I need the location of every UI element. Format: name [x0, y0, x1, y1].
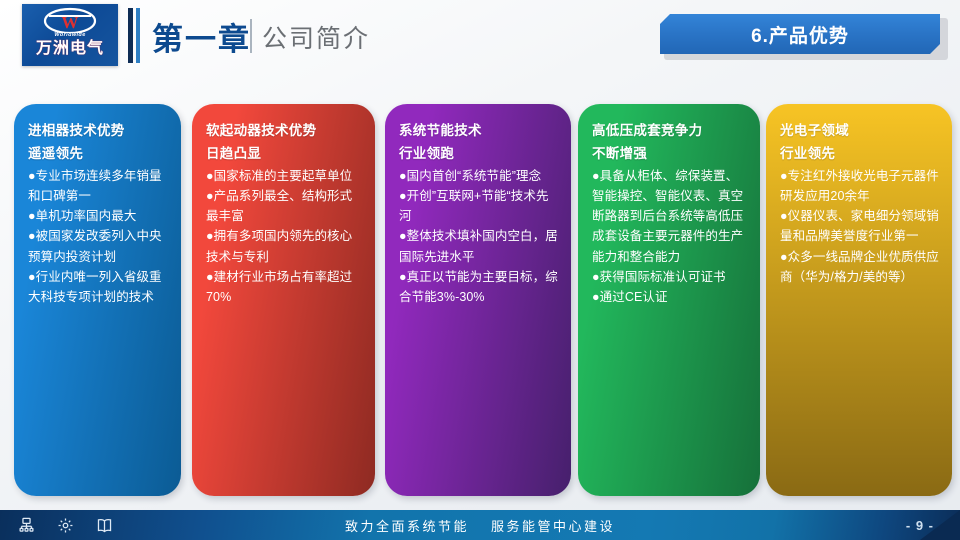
card-bullet: ●真正以节能为主要目标，综合节能3%-30% [399, 267, 559, 308]
card-bullet: ●产品系列最全、结构形式最丰富 [206, 186, 363, 227]
card-bullet: ●拥有多项国内领先的核心技术与专利 [206, 226, 363, 267]
card-title-line1: 系统节能技术 [399, 120, 559, 142]
footer-tagline: 致力全面系统节能 服务能管中心建设 [0, 510, 960, 540]
card-bullet: ●整体技术填补国内空白，居国际先进水平 [399, 226, 559, 267]
card-bullet: ●行业内唯一列入省级重大科技专项计划的技术 [28, 267, 169, 308]
card-bullet-list: ●国家标准的主要起草单位●产品系列最全、结构形式最丰富●拥有多项国内领先的核心技… [206, 166, 363, 308]
advantage-cards-row: 进相器技术优势遥遥领先●专业市场连续多年销量和口碑第一●单机功率国内最大●被国家… [0, 104, 960, 496]
card-bullet-list: ●具备从柜体、综保装置、智能操控、智能仪表、真空断路器到后台系统等高低压成套设备… [592, 166, 748, 308]
card-phase-shifter: 进相器技术优势遥遥领先●专业市场连续多年销量和口碑第一●单机功率国内最大●被国家… [14, 104, 181, 496]
card-bullet-list: ●专注红外接收光电子元器件研发应用20余年●仪器仪表、家电细分领域销量和品牌美誉… [780, 166, 940, 288]
slide-footer: 致力全面系统节能 服务能管中心建设 - 9 - [0, 510, 960, 540]
card-title-line1: 高低压成套竞争力 [592, 120, 748, 142]
card-bullet-list: ●国内首创“系统节能”理念●开创”互联网+节能“技术先河●整体技术填补国内空白，… [399, 166, 559, 308]
card-bullet: ●众多一线品牌企业优质供应商（华为/格力/美的等） [780, 247, 940, 288]
card-bullet: ●单机功率国内最大 [28, 206, 169, 226]
card-title-line1: 光电子领域 [780, 120, 940, 142]
card-title-line2: 行业领先 [780, 143, 940, 165]
card-soft-starter: 软起动器技术优势日趋凸显●国家标准的主要起草单位●产品系列最全、结构形式最丰富●… [192, 104, 375, 496]
card-bullet: ●专注红外接收光电子元器件研发应用20余年 [780, 166, 940, 207]
card-bullet: ●获得国际标准认可证书 [592, 267, 748, 287]
card-title-line1: 软起动器技术优势 [206, 120, 363, 142]
footer-tagline-right: 服务能管中心建设 [491, 516, 615, 535]
badge-shape: 6.产品优势 [660, 14, 940, 54]
card-bullet: ●仪器仪表、家电细分领域销量和品牌美誉度行业第一 [780, 206, 940, 247]
section-title-text: 6.产品优势 [751, 21, 849, 48]
card-system-saving: 系统节能技术行业领跑●国内首创“系统节能”理念●开创”互联网+节能“技术先河●整… [385, 104, 571, 496]
chapter-divider [250, 19, 252, 53]
card-bullet: ●通过CE认证 [592, 287, 748, 307]
card-title-line2: 日趋凸显 [206, 143, 363, 165]
page-number: - 9 - [906, 510, 934, 540]
card-title-line2: 遥遥领先 [28, 143, 169, 165]
logo-emblem-icon: W [42, 7, 98, 33]
card-title-line2: 行业领跑 [399, 143, 559, 165]
svg-text:W: W [62, 13, 79, 32]
card-bullet: ●被国家发改委列入中央预算内投资计划 [28, 226, 169, 267]
card-bullet: ●建材行业市场占有率超过70% [206, 267, 363, 308]
header-accent-bar-light [136, 8, 140, 63]
card-title-line2: 不断增强 [592, 143, 748, 165]
chapter-title: 第一章 [152, 14, 251, 59]
card-bullet: ●具备从柜体、综保装置、智能操控、智能仪表、真空断路器到后台系统等高低压成套设备… [592, 166, 748, 267]
card-bullet: ●开创”互联网+节能“技术先河 [399, 186, 559, 227]
footer-tagline-left: 致力全面系统节能 [345, 516, 469, 535]
header-accent-bar-dark [128, 8, 133, 63]
slide-header: W Worldwide 万洲电气 第一章 公司简介 6.产品优势 [0, 0, 960, 78]
card-bullet: ●国内首创“系统节能”理念 [399, 166, 559, 186]
company-logo: W Worldwide 万洲电气 [22, 4, 118, 66]
card-bullet: ●国家标准的主要起草单位 [206, 166, 363, 186]
chapter-subtitle: 公司简介 [262, 19, 370, 55]
logo-chinese-name: 万洲电气 [36, 38, 104, 60]
section-title-badge: 6.产品优势 [660, 14, 948, 58]
card-title-line1: 进相器技术优势 [28, 120, 169, 142]
card-optoelectronics: 光电子领域行业领先●专注红外接收光电子元器件研发应用20余年●仪器仪表、家电细分… [766, 104, 952, 496]
card-bullet-list: ●专业市场连续多年销量和口碑第一●单机功率国内最大●被国家发改委列入中央预算内投… [28, 166, 169, 308]
card-bullet: ●专业市场连续多年销量和口碑第一 [28, 166, 169, 207]
card-switchgear: 高低压成套竞争力不断增强●具备从柜体、综保装置、智能操控、智能仪表、真空断路器到… [578, 104, 760, 496]
